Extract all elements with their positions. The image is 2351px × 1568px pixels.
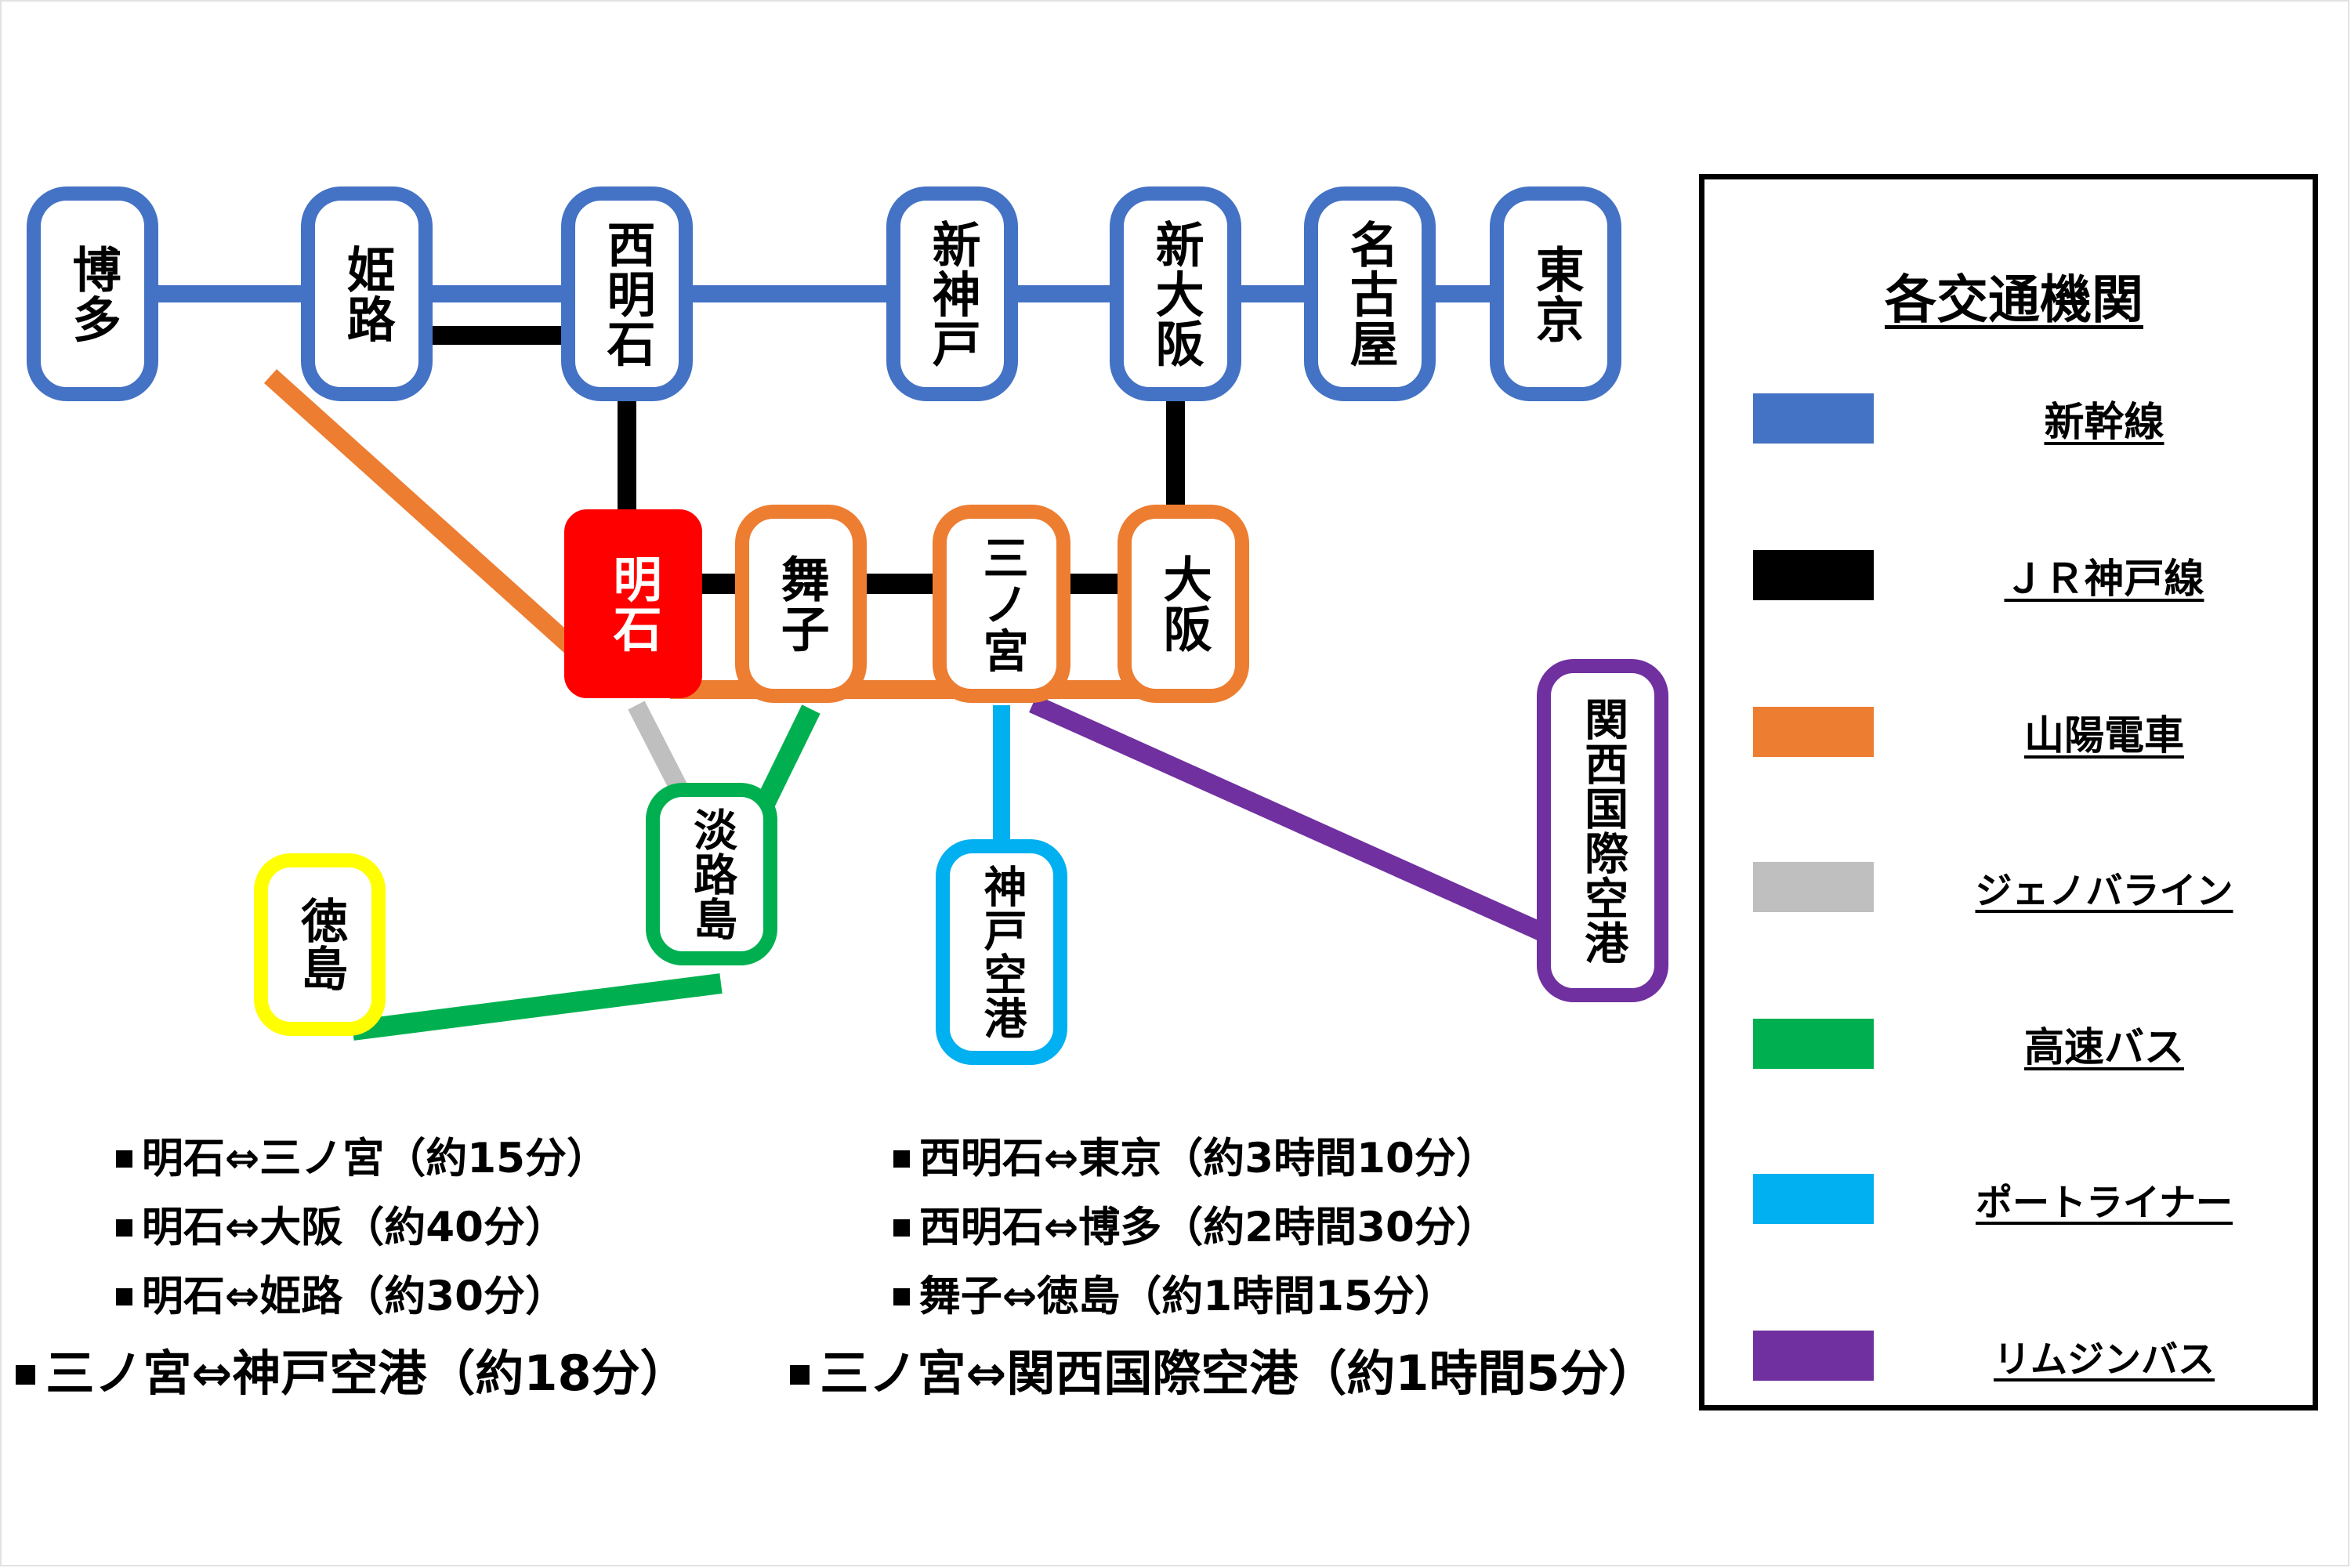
bullet-icon (893, 1288, 910, 1305)
bullet-icon (16, 1365, 35, 1385)
legend-swatch-genova-line (1753, 862, 1874, 912)
legend-label-limousine-bus: リムジンバス (1908, 1329, 2300, 1383)
station-box-maiko[interactable] (742, 512, 860, 696)
legend-swatch-shinkansen (1753, 393, 1874, 444)
legend-title: 各交通機関 (1704, 258, 2324, 333)
bullet-icon (790, 1365, 810, 1385)
legend-label-genova-line: ジェノバライン (1908, 860, 2300, 914)
legend-swatch-port-liner (1753, 1174, 1874, 1224)
legend-row-shinkansen[interactable]: 新幹線 (1704, 391, 2324, 446)
station-box-shinkobe[interactable] (893, 194, 1011, 394)
legend-label-sanyo-dentetsu: 山陽電車 (1908, 703, 2300, 761)
legend-row-port-liner[interactable]: ポートライナー (1704, 1171, 2324, 1226)
bullet-icon (116, 1288, 132, 1305)
note-bottom-left: 三ノ宮⇔神戸空港（約18分） (16, 1349, 689, 1398)
legend-label-port-liner: ポートライナー (1908, 1172, 2300, 1226)
station-box-shinosaka[interactable] (1117, 194, 1234, 394)
legend-row-highway-bus[interactable]: 高速バス (1704, 1016, 2324, 1071)
legend-swatch-sanyo-dentetsu (1753, 707, 1874, 757)
legend-row-jr-kobe-line[interactable]: ＪＲ神戸線 (1704, 548, 2324, 603)
legend-label-shinkansen: 新幹線 (1908, 389, 2300, 447)
station-box-awajishima[interactable] (653, 790, 770, 958)
station-box-tokyo[interactable] (1497, 194, 1614, 394)
note-left-1: 明石⇔三ノ宮（約15分） (116, 1138, 608, 1179)
bullet-icon (116, 1219, 132, 1236)
bullet-icon (893, 1150, 910, 1167)
station-box-himeji[interactable] (308, 194, 426, 394)
note-left-2: 明石⇔大阪（約40分） (116, 1207, 567, 1248)
stations-layer (34, 194, 1661, 1058)
legend-swatch-highway-bus (1753, 1019, 1874, 1069)
note-text: 西明石⇔博多（約2時間30分） (919, 1204, 1498, 1251)
note-left-3: 明石⇔姫路（約30分） (116, 1276, 567, 1317)
note-text: 三ノ宮⇔関西国際空港（約1時間5分） (820, 1345, 1657, 1402)
note-text: 三ノ宮⇔神戸空港（約18分） (45, 1345, 688, 1402)
legend-row-sanyo-dentetsu[interactable]: 山陽電車 (1704, 704, 2324, 759)
diagram-page: 博多 姫路 西明石 新神戸 新大阪 名古屋 東京 明石 舞子 三ノ宮 大阪 淡路… (0, 0, 2351, 1568)
legend-row-genova-line[interactable]: ジェノバライン (1704, 860, 2324, 914)
note-right-1: 西明石⇔東京（約3時間10分） (893, 1138, 1498, 1179)
note-text: 明石⇔大阪（約40分） (142, 1204, 567, 1251)
note-text: 明石⇔三ノ宮（約15分） (142, 1135, 608, 1182)
note-right-3: 舞子⇔徳島（約1時間15分） (893, 1276, 1456, 1317)
legend-label-highway-bus: 高速バス (1908, 1015, 2300, 1073)
legend-swatch-jr-kobe-line (1753, 550, 1874, 600)
station-box-osaka[interactable] (1125, 512, 1242, 696)
legend-panel: 各交通機関 新幹線 ＪＲ神戸線 山陽電車 ジェノバライン 高速バス ポートライナ… (1699, 174, 2318, 1410)
note-text: 明石⇔姫路（約30分） (142, 1273, 567, 1320)
station-box-kobeairport[interactable] (943, 846, 1060, 1058)
note-bottom-right: 三ノ宮⇔関西国際空港（約1時間5分） (790, 1349, 1657, 1398)
station-box-sannomiya[interactable] (940, 512, 1063, 696)
bullet-icon (893, 1219, 910, 1236)
station-box-kansaiairport[interactable] (1544, 666, 1661, 995)
station-box-nishiakashi[interactable] (568, 194, 686, 394)
station-box-tokushima[interactable] (261, 860, 379, 1029)
note-text: 舞子⇔徳島（約1時間15分） (919, 1273, 1456, 1320)
note-right-2: 西明石⇔博多（約2時間30分） (893, 1207, 1498, 1248)
edge-limousine-bus (1033, 704, 1583, 951)
legend-swatch-limousine-bus (1753, 1331, 1874, 1381)
bullet-icon (116, 1150, 132, 1167)
note-text: 西明石⇔東京（約3時間10分） (919, 1135, 1498, 1182)
station-box-akashi[interactable] (567, 512, 700, 696)
station-box-hakata[interactable] (34, 194, 151, 394)
transit-diagram (0, 0, 1693, 1568)
legend-label-jr-kobe-line: ＪＲ神戸線 (1908, 546, 2300, 604)
legend-row-limousine-bus[interactable]: リムジンバス (1704, 1328, 2324, 1383)
station-box-nagoya[interactable] (1311, 194, 1429, 394)
